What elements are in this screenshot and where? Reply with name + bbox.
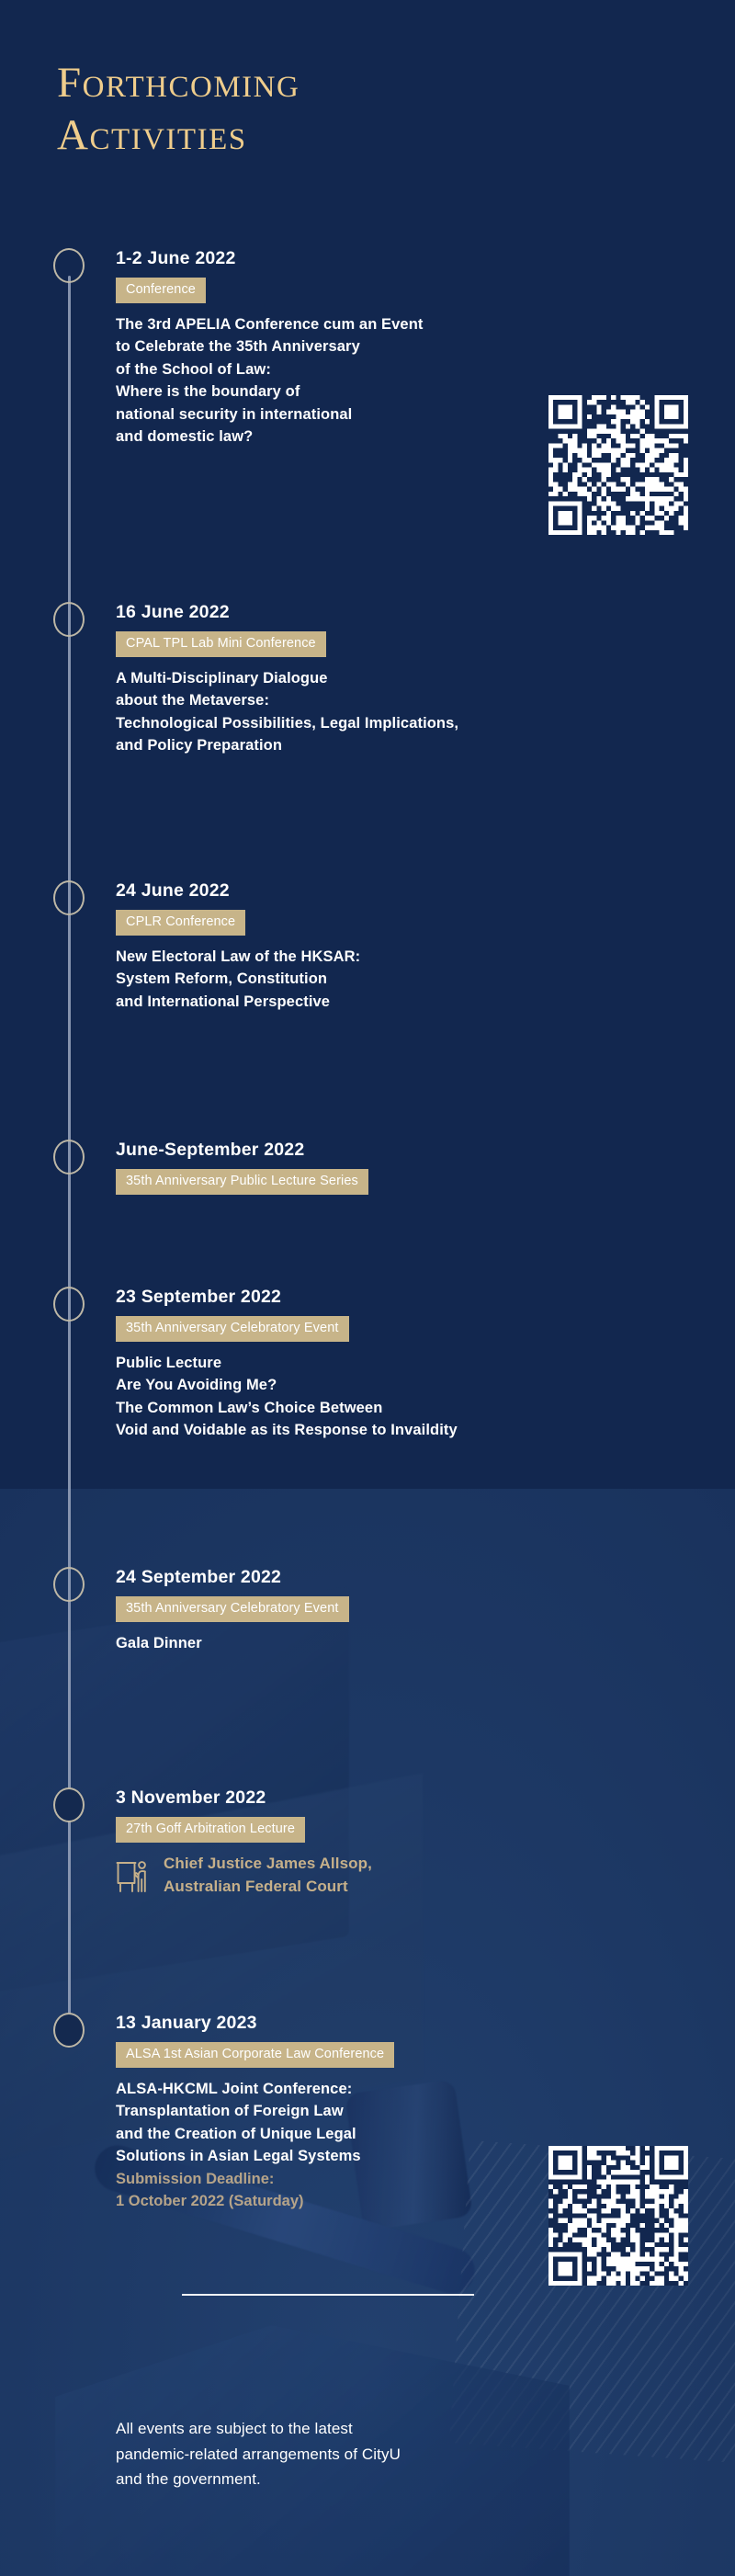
event-body: New Electoral Law of the HKSAR: System R… (116, 946, 722, 1013)
event-body-line: of the School of Law: (116, 358, 722, 380)
event-body: Public Lecture Are You Avoiding Me? The … (116, 1352, 722, 1442)
event-body-line: Gala Dinner (116, 1632, 722, 1654)
event-date: 1-2 June 2022 (116, 248, 722, 269)
event-body-line: and Policy Preparation (116, 734, 722, 756)
event-tag: 35th Anniversary Public Lecture Series (116, 1169, 368, 1195)
event-body: A Multi-Disciplinary Dialogue about the … (116, 667, 722, 757)
event-body-line: to Celebrate the 35th Anniversary (116, 335, 722, 357)
timeline-marker (53, 2013, 85, 2048)
event-date: 24 June 2022 (116, 880, 722, 902)
footer-note-line: All events are subject to the latest (116, 2416, 617, 2442)
timeline-marker (53, 1140, 85, 1175)
event-date: 3 November 2022 (116, 1787, 722, 1809)
event-speaker: Chief Justice James Allsop, Australian F… (116, 1853, 722, 1898)
events-timeline: 1-2 June 2022 Conference The 3rd APELIA … (0, 0, 735, 2576)
timeline-marker (53, 1567, 85, 1602)
event-body-line: Are You Avoiding Me? (116, 1374, 722, 1396)
event-tag: 35th Anniversary Celebratory Event (116, 1316, 349, 1342)
event-speaker-line: Australian Federal Court (164, 1878, 348, 1895)
event-tag: ALSA 1st Asian Corporate Law Conference (116, 2042, 394, 2068)
event-body-line: and International Perspective (116, 991, 722, 1013)
event-body-line: System Reform, Constitution (116, 968, 722, 990)
event-body-line: and the Creation of Unique Legal (116, 2123, 722, 2145)
event-body-line: New Electoral Law of the HKSAR: (116, 946, 722, 968)
event-tag: CPLR Conference (116, 910, 245, 936)
event-qr-code[interactable] (548, 395, 688, 535)
event-tag: Conference (116, 278, 206, 303)
event-qr-code[interactable] (548, 2146, 688, 2286)
event-body: Gala Dinner (116, 1632, 722, 1654)
event-body-line: The 3rd APELIA Conference cum an Event (116, 313, 722, 335)
timeline-marker (53, 602, 85, 637)
event-tag: 35th Anniversary Celebratory Event (116, 1596, 349, 1622)
poster-page: Forthcoming Activities 1-2 June 2022 Con… (0, 0, 735, 2576)
event-body-line: A Multi-Disciplinary Dialogue (116, 667, 722, 689)
event-body-line: ALSA-HKCML Joint Conference: (116, 2078, 722, 2100)
event-body-line: Technological Possibilities, Legal Impli… (116, 712, 722, 734)
timeline-marker (53, 248, 85, 283)
event-date: 23 September 2022 (116, 1287, 722, 1308)
event-tag: 27th Goff Arbitration Lecture (116, 1817, 305, 1843)
footer-note-line: pandemic-related arrangements of CityU (116, 2442, 617, 2468)
event-date: June-September 2022 (116, 1140, 722, 1161)
event-body-line: Transplantation of Foreign Law (116, 2100, 722, 2122)
event-body-line: Void and Voidable as its Response to Inv… (116, 1419, 722, 1441)
event-date: 24 September 2022 (116, 1567, 722, 1588)
lecturer-podium-icon (116, 1855, 156, 1895)
timeline-marker (53, 1287, 85, 1322)
timeline-marker (53, 880, 85, 915)
event-date: 13 January 2023 (116, 2013, 722, 2034)
event-date: 16 June 2022 (116, 602, 722, 623)
footer-divider (182, 2294, 474, 2296)
timeline-marker (53, 1787, 85, 1822)
event-body-line: Public Lecture (116, 1352, 722, 1374)
event-body-line: about the Metaverse: (116, 689, 722, 711)
footer-note-line: and the government. (116, 2467, 617, 2492)
event-body-line: The Common Law’s Choice Between (116, 1397, 722, 1419)
event-tag: CPAL TPL Lab Mini Conference (116, 631, 326, 657)
footer-note: All events are subject to the latest pan… (116, 2416, 617, 2492)
event-speaker-line: Chief Justice James Allsop, (164, 1855, 372, 1872)
